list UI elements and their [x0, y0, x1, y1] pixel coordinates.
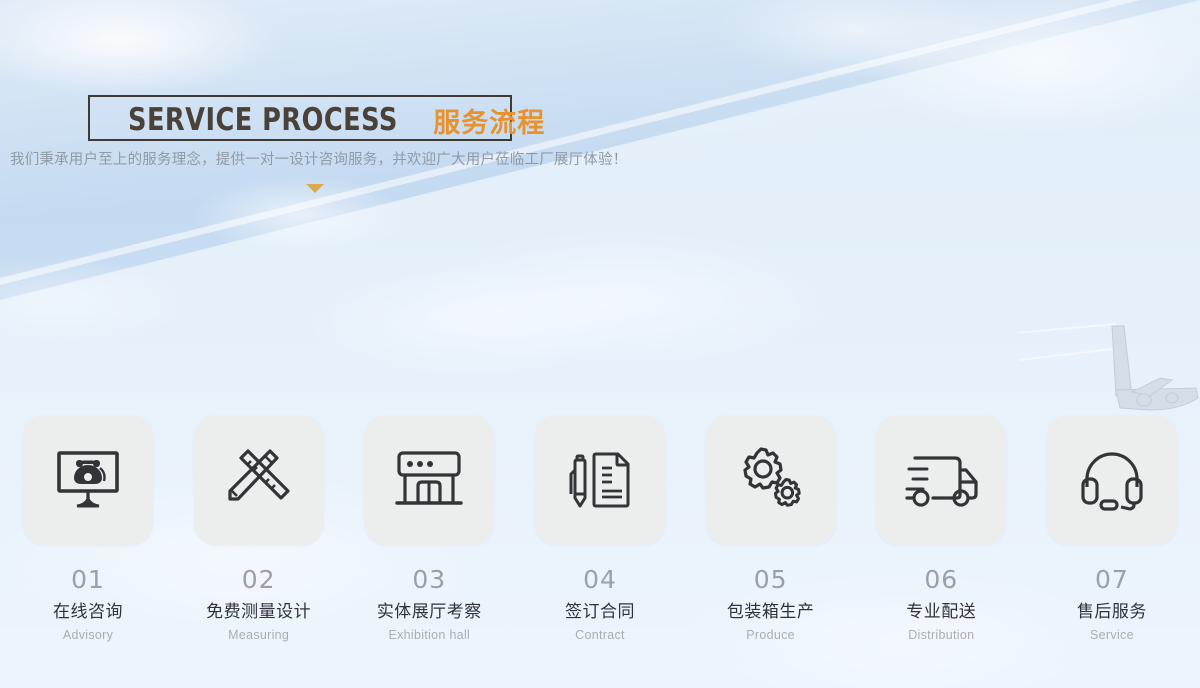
step-number: 02 [242, 567, 276, 592]
step-label-cn: 在线咨询 [53, 603, 123, 620]
headset-icon [1079, 449, 1145, 511]
gears-icon [736, 447, 806, 513]
step-icon-card[interactable] [364, 415, 494, 545]
step-item[interactable]: 06 专业配送 Distribution [861, 415, 1021, 642]
step-number: 03 [412, 567, 446, 592]
step-label-en: Distribution [908, 629, 974, 642]
step-label-cn: 实体展厅考察 [377, 603, 482, 620]
step-label-cn: 售后服务 [1077, 603, 1147, 620]
step-icon-card[interactable] [194, 415, 324, 545]
step-number: 07 [1095, 567, 1129, 592]
step-label-en: Exhibition hall [388, 629, 470, 642]
step-label-cn: 专业配送 [906, 603, 976, 620]
step-label-cn: 包装箱生产 [727, 603, 815, 620]
delivery-truck-icon [903, 452, 979, 508]
step-label-en: Produce [746, 629, 795, 642]
step-icon-card[interactable] [1047, 415, 1177, 545]
step-icon-card[interactable] [706, 415, 836, 545]
step-label-en: Service [1090, 629, 1134, 642]
service-process-banner: SERVICE PROCESS 服务流程 我们秉承用户至上的服务理念，提供一对一… [0, 0, 1200, 688]
ruler-pencil-icon [228, 449, 290, 511]
step-number: 01 [71, 567, 105, 592]
pen-document-icon [568, 448, 632, 512]
monitor-phone-icon [55, 449, 121, 511]
step-label-cn: 签订合同 [565, 603, 635, 620]
step-icon-card[interactable] [876, 415, 1006, 545]
step-item[interactable]: 03 实体展厅考察 Exhibition hall [349, 415, 509, 642]
step-icon-card[interactable] [23, 415, 153, 545]
service-steps-list: 01 在线咨询 Advisory 02 [0, 415, 1200, 642]
airplane-icon [1020, 318, 1200, 428]
step-number: 05 [754, 567, 788, 592]
step-label-cn: 免费测量设计 [206, 603, 311, 620]
chevron-down-icon [306, 184, 324, 193]
banner-subtitle: 我们秉承用户至上的服务理念，提供一对一设计咨询服务，并欢迎广大用户莅临工厂展厅体… [10, 148, 627, 169]
title-english: SERVICE PROCESS [128, 102, 398, 138]
step-item[interactable]: 05 包装箱生产 Produce [691, 415, 851, 642]
step-item[interactable]: 02 免费测量设计 Measuring [179, 415, 339, 642]
step-number: 04 [583, 567, 617, 592]
page-title: SERVICE PROCESS 服务流程 [118, 100, 555, 140]
step-label-en: Contract [575, 629, 625, 642]
step-label-en: Measuring [228, 629, 289, 642]
step-icon-card[interactable] [535, 415, 665, 545]
step-item[interactable]: 01 在线咨询 Advisory [8, 415, 168, 642]
title-chinese: 服务流程 [433, 101, 545, 140]
step-item[interactable]: 07 售后服务 Service [1032, 415, 1192, 642]
storefront-icon [394, 450, 464, 510]
step-item[interactable]: 04 签订合同 Contract [520, 415, 680, 642]
step-label-en: Advisory [63, 629, 113, 642]
step-number: 06 [924, 567, 958, 592]
